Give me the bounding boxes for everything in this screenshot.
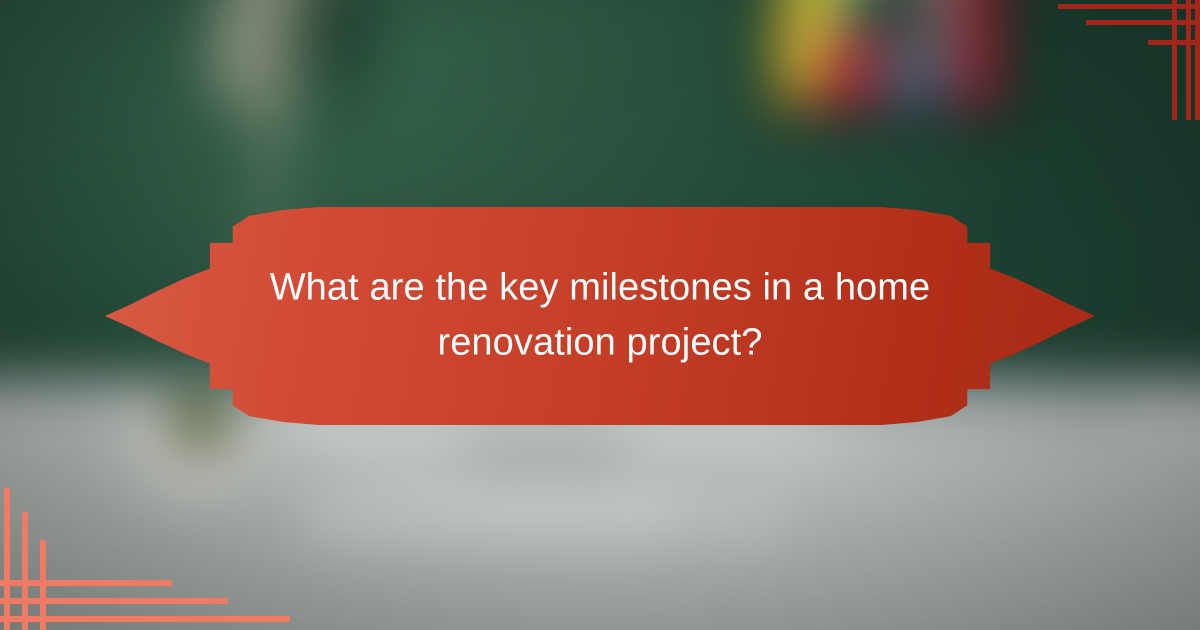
corner-rule-vertical bbox=[22, 512, 28, 630]
corner-rule-bottom-left bbox=[0, 430, 200, 630]
corner-rule-vertical bbox=[4, 488, 10, 630]
corner-rule-vertical bbox=[1186, 0, 1191, 120]
question-banner: What are the key milestones in a home re… bbox=[105, 200, 1095, 432]
corner-rule-horizontal bbox=[1058, 4, 1200, 9]
corner-rule-top-right bbox=[1040, 0, 1200, 120]
corner-rule-vertical bbox=[1172, 0, 1177, 120]
corner-rule-horizontal bbox=[0, 580, 172, 586]
corner-rule-horizontal bbox=[0, 598, 228, 604]
question-text: What are the key milestones in a home re… bbox=[225, 261, 975, 372]
corner-rule-vertical bbox=[1195, 0, 1200, 120]
corner-rule-horizontal bbox=[0, 616, 290, 622]
corner-rule-horizontal bbox=[1086, 20, 1200, 25]
question-card: What are the key milestones in a home re… bbox=[0, 0, 1200, 630]
